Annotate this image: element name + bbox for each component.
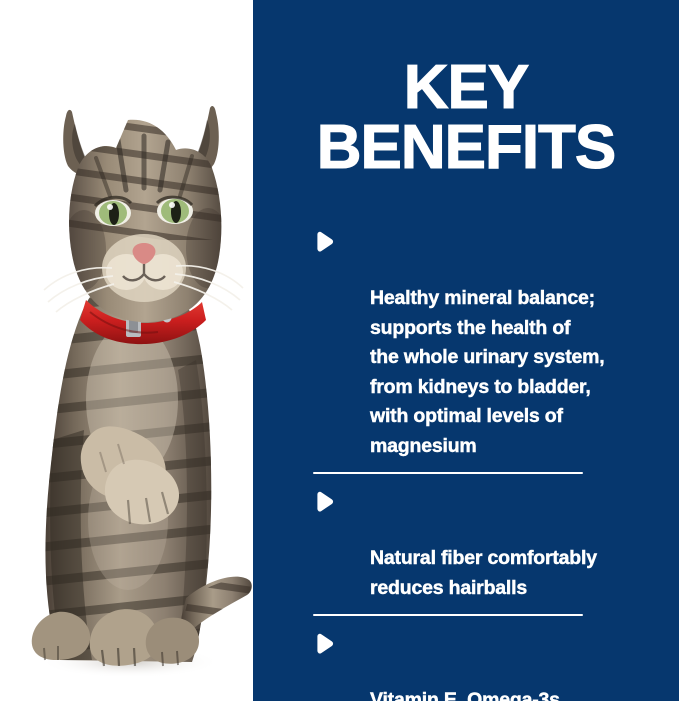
benefit-block-1: Healthy mineral balance; supports the he…	[313, 225, 679, 461]
benefit-block-2: Natural fiber comfortably reduces hairba…	[313, 485, 679, 603]
play-triangle-icon	[313, 491, 335, 513]
list-item: Vitamin E, Omega-3s & -6s for beautiful …	[313, 627, 679, 701]
cat-photo	[0, 0, 253, 701]
cat-head	[44, 106, 243, 322]
play-triangle-icon	[313, 633, 335, 655]
list-item-label: Natural fiber comfortably reduces hairba…	[370, 547, 597, 599]
key-benefits-promo-card: KEY BENEFITS Healthy mineral balance; su…	[0, 0, 679, 701]
product-photo-panel	[0, 0, 253, 701]
benefit-list: Healthy mineral balance; supports the he…	[313, 225, 679, 701]
divider-2	[313, 614, 583, 616]
list-item: Healthy mineral balance; supports the he…	[313, 225, 679, 461]
benefits-panel: KEY BENEFITS Healthy mineral balance; su…	[253, 0, 679, 701]
list-item-label: Healthy mineral balance; supports the he…	[370, 287, 605, 457]
page-title: KEY BENEFITS	[253, 58, 679, 178]
divider-1	[313, 472, 583, 474]
list-item-label: Vitamin E, Omega-3s & -6s for beautiful …	[370, 689, 560, 701]
cat-hind-paws	[32, 609, 199, 666]
play-triangle-icon	[313, 231, 335, 253]
list-item: Natural fiber comfortably reduces hairba…	[313, 485, 679, 603]
benefit-block-3: Vitamin E, Omega-3s & -6s for beautiful …	[313, 627, 679, 701]
